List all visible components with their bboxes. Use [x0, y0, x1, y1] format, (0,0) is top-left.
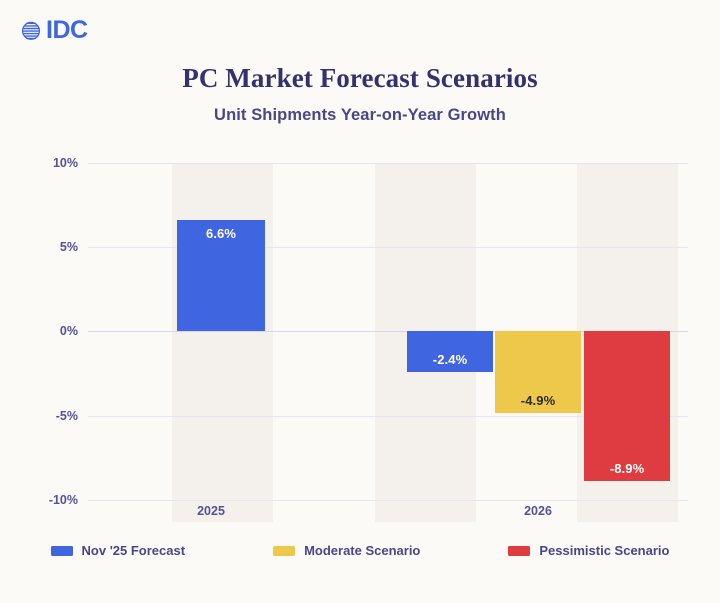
- gridline-10: [88, 163, 688, 164]
- category-band: [172, 163, 273, 522]
- x-axis-tick-2025: 2025: [197, 504, 225, 518]
- y-axis-tick: -10%: [22, 493, 78, 507]
- legend-swatch-icon: [51, 546, 73, 556]
- legend-label: Pessimistic Scenario: [539, 543, 669, 558]
- bar-value-label: -2.4%: [407, 352, 493, 367]
- bar-2026-pessimistic-scenario[interactable]: -8.9%: [584, 331, 670, 481]
- legend-item-nov-25-forecast[interactable]: Nov '25 Forecast: [51, 543, 186, 558]
- legend-swatch-icon: [508, 546, 530, 556]
- y-axis-tick: -5%: [22, 409, 78, 423]
- legend-label: Nov '25 Forecast: [82, 543, 186, 558]
- bar-value-label: -4.9%: [495, 393, 581, 408]
- bar-value-label: 6.6%: [177, 226, 265, 241]
- y-axis-tick: 0%: [22, 324, 78, 338]
- legend-swatch-icon: [273, 546, 295, 556]
- x-axis-tick-2026: 2026: [524, 504, 552, 518]
- bar-value-label: -8.9%: [584, 461, 670, 476]
- gridline-neg10: [88, 500, 688, 501]
- legend-item-pessimistic-scenario[interactable]: Pessimistic Scenario: [508, 543, 669, 558]
- chart-legend: Nov '25 Forecast Moderate Scenario Pessi…: [0, 543, 720, 558]
- y-axis-tick: 10%: [22, 156, 78, 170]
- bar-chart-plot: 10% 5% 0% -5% -10% 6.6% -2.4% -4.9% -8.9…: [0, 0, 720, 603]
- bar-2026-nov25-forecast[interactable]: -2.4%: [407, 331, 493, 372]
- bar-2026-moderate-scenario[interactable]: -4.9%: [495, 331, 581, 413]
- bar-2025-nov25-forecast[interactable]: 6.6%: [177, 220, 265, 331]
- legend-label: Moderate Scenario: [304, 543, 420, 558]
- legend-item-moderate-scenario[interactable]: Moderate Scenario: [273, 543, 420, 558]
- y-axis-tick: 5%: [22, 240, 78, 254]
